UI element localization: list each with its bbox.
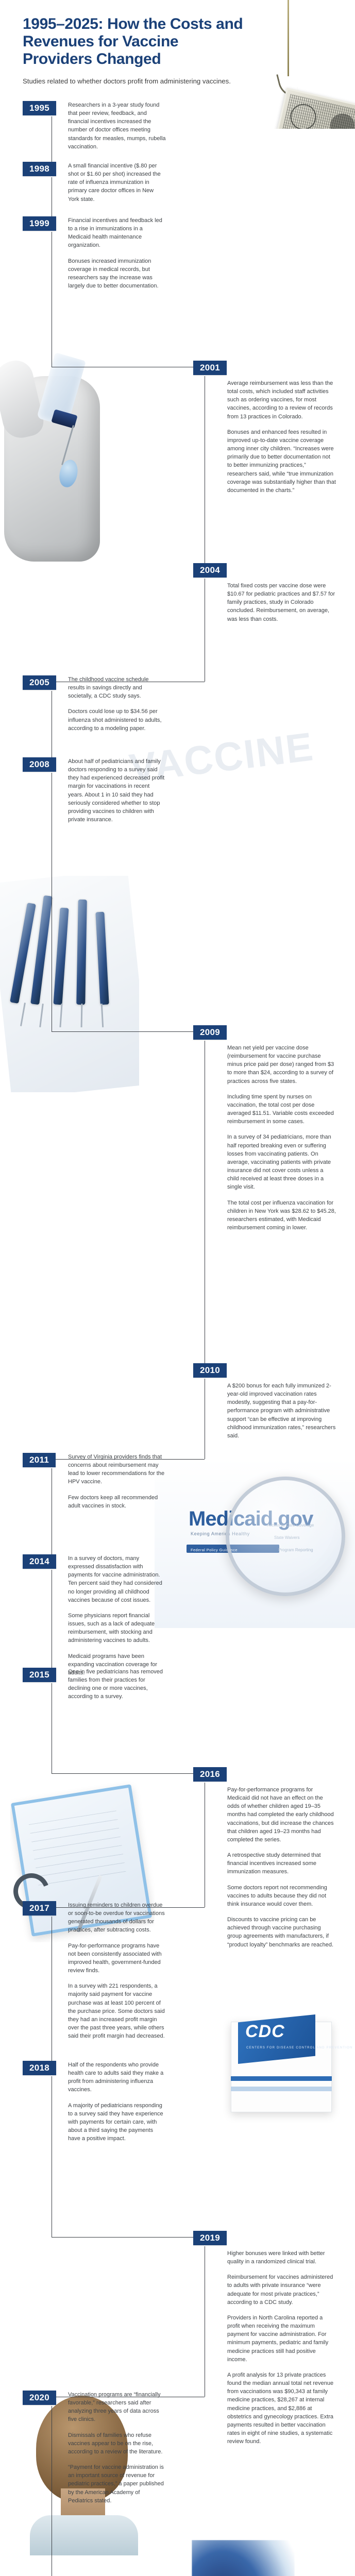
paragraph: Total fixed costs per vaccine dose were … [227,582,336,623]
box-stripe [231,2076,332,2081]
timeline-rail-segment [205,579,205,682]
timeline-year-2019[interactable]: 2019 [193,2231,227,2245]
timeline-year-2005[interactable]: 2005 [23,675,56,690]
timeline-entry-2019: Higher bonuses were linked with better q… [227,2249,336,2446]
fish-hook-dollar-photo [242,0,355,129]
paragraph: A small financial incentive ($.80 per sh… [68,162,166,204]
timeline-rail-segment [205,376,205,563]
timeline-rail-segment [52,1468,52,1554]
paragraph: A majority of pediatricians responding t… [68,2102,166,2143]
timeline-entry-2011: Survey of Virginia providers finds that … [68,1453,166,1510]
paragraph: About half of pediatricians and family d… [68,757,166,824]
shirt-shape [30,2515,138,2555]
timeline-rail-connector [52,367,205,367]
timeline-entry-1998: A small financial incentive ($.80 per sh… [68,162,166,204]
paragraph: Issuing reminders to children overdue or… [68,1901,166,1935]
timeline-rail-segment [52,1683,52,1773]
timeline-rail-segment [52,232,52,367]
paragraph: A profit analysis for 13 private practic… [227,2371,336,2446]
timeline-entry-2015: One in five pediatricians has removed fa… [68,1668,166,1701]
timeline-rail-connector [52,2237,205,2238]
magnifying-glass-icon [226,1477,345,1596]
timeline-year-2011[interactable]: 2011 [23,1453,56,1467]
paragraph: Some doctors report not recommending vac… [227,1884,336,1908]
timeline-entry-1995: Researchers in a 3-year study found that… [68,101,166,151]
page-title: 1995–2025: How the Costs and Revenues fo… [23,15,244,68]
syringe-row-photo [0,876,139,1092]
hook-line [288,0,289,76]
timeline-year-2016[interactable]: 2016 [193,1767,227,1782]
vial-liquid-swirl [192,2540,295,2576]
header: 1995–2025: How the Costs and Revenues fo… [23,15,244,86]
paragraph: Vaccination programs are “financially fa… [68,2391,166,2424]
timeline-rail-segment [205,2246,205,2397]
cdc-sub-text: CENTERS FOR DISEASE CONTROL AND PREVENTI… [246,2046,353,2049]
cdc-logo-text: CDC [245,2022,285,2042]
paragraph: Pay-for-performance programs have not be… [68,1942,166,1975]
paragraph: A retrospective study determined that fi… [227,1851,336,1876]
timeline-year-2018[interactable]: 2018 [23,2061,56,2075]
medicaid-magnifier-photo: Medicaid.gov Keeping America Healthy Fed… [155,1458,355,1628]
paragraph: Average reimbursement was less than the … [227,379,336,421]
paragraph: Discounts to vaccine pricing can be achi… [227,1916,336,1949]
paragraph: Doctors could lose up to $34.56 per infl… [68,707,166,732]
paragraph: Researchers in a 3-year study found that… [68,101,166,151]
timeline-rail-segment [52,1917,52,2061]
timeline-rail-segment [52,2076,52,2237]
box-stripe [231,2087,332,2091]
paragraph: Higher bonuses were linked with better q… [227,2249,336,2266]
timeline-year-2001[interactable]: 2001 [193,361,227,375]
timeline-rail-segment [52,1570,52,1668]
timeline-entry-2020: Vaccination programs are “financially fa… [68,2391,166,2505]
timeline-entry-2010: A $200 bonus for each fully immunized 2-… [227,1382,336,1440]
paragraph: Bonuses increased immunization coverage … [68,257,166,291]
paragraph: Half of the respondents who provide heal… [68,2061,166,2094]
timeline-year-2020[interactable]: 2020 [23,2391,56,2405]
paragraph: In a survey with 221 respondents, a majo… [68,1982,166,2040]
timeline-rail-segment [52,773,52,1031]
paragraph: The total cost per influenza vaccination… [227,1199,336,1232]
timeline-year-2015[interactable]: 2015 [23,1668,56,1682]
paragraph: Reimbursement for vaccines administered … [227,2273,336,2307]
page-subtitle: Studies related to whether doctors profi… [23,76,244,86]
timeline-year-2008[interactable]: 2008 [23,757,56,772]
paragraph: “Payment for vaccine administration is a… [68,2463,166,2505]
timeline-rail-segment [52,177,52,216]
paragraph: Including time spent by nurses on vaccin… [227,1093,336,1126]
timeline-rail-segment [205,1041,205,1363]
timeline-rail-segment [52,116,52,162]
paragraph: In a survey of 34 pediatricians, more th… [227,1133,336,1191]
timeline-entry-2018: Half of the respondents who provide heal… [68,2061,166,2143]
timeline-entry-2004: Total fixed costs per vaccine dose were … [227,582,336,623]
timeline-entry-2016: Pay-for-performance programs for Medicai… [227,1786,336,1949]
gloved-hand-vial-photo [0,340,124,577]
timeline-year-1999[interactable]: 1999 [23,216,56,231]
timeline-entry-2009: Mean net yield per vaccine dose (reimbur… [227,1044,336,1232]
timeline-year-1998[interactable]: 1998 [23,162,56,176]
timeline-rail-segment [205,1379,205,1459]
timeline-year-1995[interactable]: 1995 [23,101,56,115]
timeline-rail-connector [52,1031,205,1032]
dollar-bill [276,88,355,129]
cdc-box-photo: CDC CENTERS FOR DISEASE CONTROL AND PREV… [206,1999,355,2143]
infographic-page: VACCINE Medicaid.gov Keeping America Hea… [0,0,355,2576]
paragraph: Bonuses and enhanced fees resulted in im… [227,428,336,495]
paragraph: A $200 bonus for each fully immunized 2-… [227,1382,336,1440]
timeline-entry-2005: The childhood vaccine schedule results i… [68,675,166,733]
timeline-rail-segment [52,691,52,757]
timeline-rail-segment [52,2406,52,2576]
blue-vial-photo [192,2540,295,2576]
paragraph: Dismissals of families who refuse vaccin… [68,2431,166,2456]
paragraph: Financial incentives and feedback led to… [68,216,166,250]
timeline-entry-2017: Issuing reminders to children overdue or… [68,1901,166,2040]
timeline-year-2014[interactable]: 2014 [23,1554,56,1569]
paragraph: In a survey of doctors, many expressed d… [68,1554,166,1604]
timeline-year-2009[interactable]: 2009 [193,1025,227,1040]
timeline-rail-connector [52,1773,205,1774]
timeline-entry-2008: About half of pediatricians and family d… [68,757,166,824]
paragraph: Some physicians report financial issues,… [68,1612,166,1645]
paragraph: One in five pediatricians has removed fa… [68,1668,166,1701]
paragraph: Mean net yield per vaccine dose (reimbur… [227,1044,336,1086]
paragraph: Pay-for-performance programs for Medicai… [227,1786,336,1844]
paragraph: Providers in North Carolina reported a p… [227,2314,336,2364]
timeline-year-2010[interactable]: 2010 [193,1363,227,1378]
paragraph: Few doctors keep all recommended adult v… [68,1494,166,1510]
timeline-entry-1999: Financial incentives and feedback led to… [68,216,166,290]
paragraph: The childhood vaccine schedule results i… [68,675,166,700]
timeline-entry-2001: Average reimbursement was less than the … [227,379,336,495]
syringe-icon [76,900,87,1005]
timeline-year-2017[interactable]: 2017 [23,1901,56,1916]
timeline-rail-segment [205,1783,205,1907]
timeline-year-2004[interactable]: 2004 [193,563,227,578]
paragraph: Survey of Virginia providers finds that … [68,1453,166,1486]
timeline-entry-2014: In a survey of doctors, many expressed d… [68,1554,166,1677]
